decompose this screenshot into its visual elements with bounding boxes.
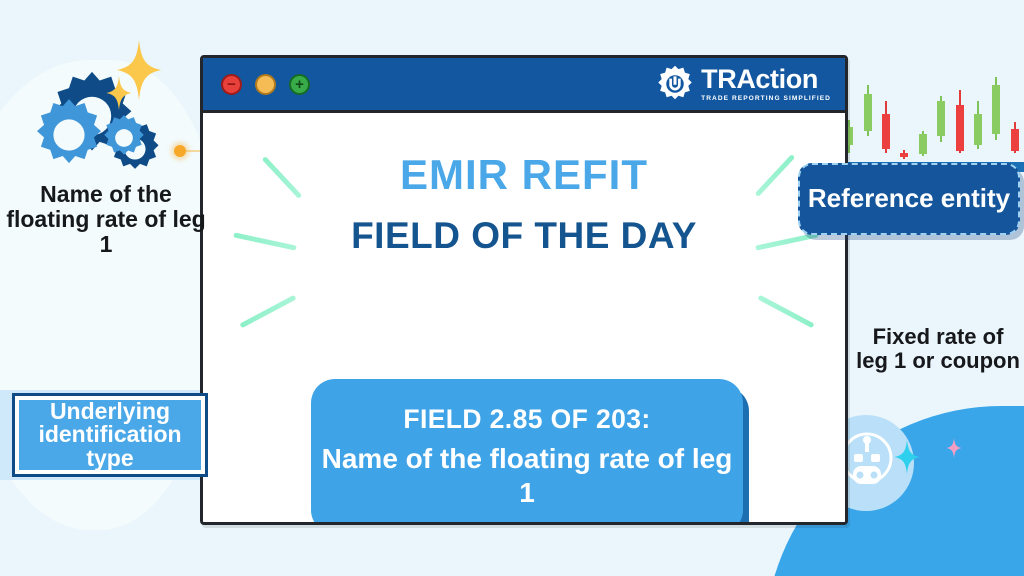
annotation-top-right: Reference entity bbox=[798, 163, 1020, 235]
annotation-bottom-left: Underlying identification type bbox=[12, 393, 208, 477]
sparkle-icon bbox=[890, 440, 924, 474]
candlestick-body bbox=[974, 114, 982, 145]
window-controls: − + bbox=[221, 74, 310, 95]
burst-ray bbox=[239, 295, 296, 329]
field-of-the-day-card: FIELD 2.85 OF 203: Name of the floating … bbox=[311, 379, 743, 525]
candlestick-down bbox=[1011, 122, 1019, 153]
brand-tagline: TRADE REPORTING SIMPLIFIED bbox=[701, 96, 831, 103]
gear-logo-icon bbox=[656, 65, 694, 103]
candlestick-body bbox=[992, 85, 1000, 135]
candlestick-body bbox=[956, 105, 964, 151]
candlestick-body bbox=[882, 114, 890, 149]
card-field-number: FIELD 2.85 OF 203: bbox=[403, 404, 650, 435]
candlestick-body bbox=[900, 153, 908, 158]
candlestick-up bbox=[919, 131, 927, 157]
gear-icon bbox=[30, 96, 108, 174]
sparkle-icon bbox=[944, 438, 964, 458]
gear-icon bbox=[98, 112, 150, 164]
close-button[interactable]: − bbox=[221, 74, 242, 95]
sparkle-icon bbox=[106, 76, 132, 110]
page-title-secondary: FIELD OF THE DAY bbox=[203, 215, 845, 257]
candlestick-up bbox=[864, 85, 872, 137]
brand-text: TRAction TRADE REPORTING SIMPLIFIED bbox=[701, 66, 831, 103]
burst-ray bbox=[757, 295, 814, 329]
minimize-button[interactable] bbox=[255, 74, 276, 95]
browser-window: − + TRAction TRADE REPORTING SIMPLIFIED … bbox=[200, 55, 848, 525]
candlestick-chart bbox=[840, 70, 1024, 172]
card-body: FIELD 2.85 OF 203: Name of the floating … bbox=[311, 379, 743, 525]
poster-canvas: − + TRAction TRADE REPORTING SIMPLIFIED … bbox=[0, 0, 1024, 576]
candlestick-body bbox=[937, 101, 945, 136]
annotation-bottom-right: Fixed rate of leg 1 or coupon bbox=[856, 325, 1020, 373]
candlestick-body bbox=[864, 94, 872, 131]
connector-dot-left bbox=[174, 145, 186, 157]
window-content: EMIR REFIT FIELD OF THE DAY FIELD 2.85 O… bbox=[203, 151, 845, 525]
annotation-bottom-left-label: Underlying identification type bbox=[19, 400, 201, 470]
candlestick-down bbox=[882, 101, 890, 153]
brand-name: TRAction bbox=[701, 66, 831, 93]
candlestick-up bbox=[974, 101, 982, 149]
window-titlebar: − + TRAction TRADE REPORTING SIMPLIFIED bbox=[203, 58, 845, 113]
candlestick-down bbox=[900, 150, 908, 159]
candlestick-body bbox=[919, 134, 927, 153]
candlestick-up bbox=[992, 77, 1000, 140]
maximize-button[interactable]: + bbox=[289, 74, 310, 95]
candlestick-up bbox=[937, 96, 945, 142]
brand-logo: TRAction TRADE REPORTING SIMPLIFIED bbox=[656, 65, 831, 103]
candlestick-body bbox=[1011, 129, 1019, 151]
annotation-top-left: Name of the floating rate of leg 1 bbox=[2, 182, 210, 256]
card-field-name: Name of the floating rate of leg 1 bbox=[311, 442, 743, 508]
candlestick-down bbox=[956, 90, 964, 153]
